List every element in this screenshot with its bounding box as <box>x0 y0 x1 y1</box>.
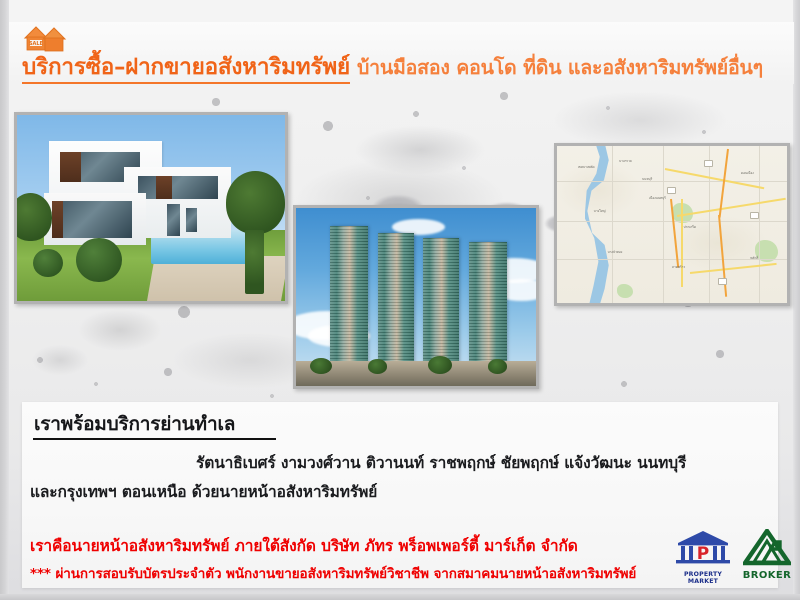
panel-title: เราพร้อมบริการย่านทำเล <box>34 409 235 439</box>
tree <box>226 171 285 234</box>
broker-caption: BROKER <box>740 570 794 581</box>
property-market-building-icon: P <box>672 529 734 567</box>
condo-tower <box>330 226 368 365</box>
window <box>167 204 180 236</box>
map-label: นนทบุรี <box>642 177 652 182</box>
service-locations-line-1: รัตนาธิเบศร์ งามวงศ์วาน ติวานนท์ ราชพฤกษ… <box>196 450 686 475</box>
minor-road <box>709 146 710 303</box>
route-shield <box>667 187 676 194</box>
map-label: เมืองนนทบุรี <box>649 196 666 201</box>
tree <box>368 359 387 373</box>
minor-road <box>663 146 664 303</box>
page-title: บริการซื้อ–ฝากขายอสังหาริมทรัพย์ <box>22 54 350 84</box>
location-map-photo[interactable]: เขตบางพลัด บางกรวย นนทบุรี เมืองนนทบุรี … <box>554 143 790 306</box>
map-label: บางใหญ่ <box>594 209 606 214</box>
tree <box>310 358 332 374</box>
map-label: ลาดพร้าว <box>672 265 685 270</box>
header-title: บริการซื้อ–ฝากขายอสังหาริมทรัพย์บ้านมือส… <box>22 48 763 84</box>
minor-road <box>759 146 760 303</box>
broker-logo: BROKER <box>740 529 794 577</box>
route-shield <box>750 212 759 219</box>
glass-door <box>52 201 132 238</box>
window <box>138 176 218 198</box>
condominium-towers-photo[interactable] <box>293 205 539 389</box>
condo-tower <box>469 242 507 365</box>
route-shield <box>718 278 727 285</box>
modern-house-photo[interactable] <box>14 112 288 304</box>
window <box>186 208 197 232</box>
tree <box>488 359 507 373</box>
property-market-letter: P <box>697 544 709 564</box>
wood-louver <box>156 176 172 198</box>
company-affiliation-text: เราคือนายหน้าอสังหาริมทรัพย์ ภายใต้สังกั… <box>30 533 578 558</box>
bush <box>76 238 122 283</box>
map-label: หลักสี่ <box>750 256 758 261</box>
wood-frame <box>52 201 63 238</box>
park-area <box>617 284 633 298</box>
minor-road <box>612 146 613 303</box>
bottom-edge-strip <box>0 594 800 600</box>
property-market-logo: P PROPERTY MARKET <box>672 529 734 577</box>
logo-sale-text: SALE <box>29 41 44 47</box>
wood-louver <box>60 152 81 182</box>
broker-triangle-icon <box>743 529 791 566</box>
minor-road <box>557 181 787 182</box>
tree-trunk <box>245 230 264 293</box>
tree <box>428 356 452 374</box>
page-subtitle: บ้านมือสอง คอนโด ที่ดิน และอสังหาริมทรัพ… <box>357 56 763 79</box>
service-areas-panel: เราพร้อมบริการย่านทำเล รัตนาธิเบศร์ งามว… <box>22 402 778 588</box>
condo-tower <box>378 233 414 365</box>
route-shield <box>704 160 713 167</box>
right-edge-strip <box>793 0 800 600</box>
map-label: บางบัวทอง <box>608 250 623 255</box>
service-locations-line-2: และกรุงเทพฯ ตอนเหนือ ด้วยนายหน้าอสังหาริ… <box>30 479 377 504</box>
slide-canvas: SALE บริการซื้อ–ฝากขายอสังหาริมทรัพย์บ้า… <box>0 0 800 600</box>
certification-note-text: *** ผ่านการสอบรับบัตรประจำตัว พนักงานขาย… <box>30 562 636 584</box>
map-label: ดอนเมือง <box>741 171 754 176</box>
map-label: ปากเกร็ด <box>684 225 697 230</box>
property-market-caption: PROPERTY MARKET <box>672 571 734 585</box>
condo-tower <box>423 238 459 364</box>
header-band: SALE บริการซื้อ–ฝากขายอสังหาริมทรัพย์บ้า… <box>9 22 794 84</box>
title-underline <box>33 438 276 440</box>
left-edge-strip <box>0 0 9 600</box>
highway <box>681 199 683 287</box>
map-label: เขตบางพลัด <box>578 165 595 170</box>
bush <box>33 249 62 277</box>
map-label: บางกรวย <box>619 159 632 164</box>
